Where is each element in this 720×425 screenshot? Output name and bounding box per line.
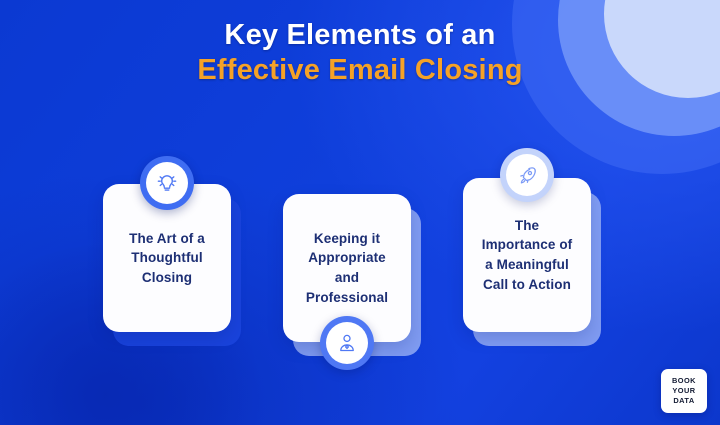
brand-logo: BOOK YOUR DATA xyxy=(661,369,707,413)
card-group: The Art of a Thoughtful Closing xyxy=(0,0,720,425)
card-label: The Importance of a Meaningful Call to A… xyxy=(477,216,577,294)
card-badge-thoughtful-closing xyxy=(140,156,194,210)
infographic-canvas: Key Elements of an Effective Email Closi… xyxy=(0,0,720,425)
card-item-appropriate-professional[interactable]: Keeping it Appropriate and Professional xyxy=(283,194,411,342)
logo-line-1: BOOK xyxy=(672,376,696,386)
rocket-icon xyxy=(517,165,538,186)
card-label: The Art of a Thoughtful Closing xyxy=(117,229,217,288)
badge-inner-circle xyxy=(506,154,548,196)
card-badge-appropriate-professional xyxy=(320,316,374,370)
badge-inner-circle xyxy=(146,162,188,204)
lightbulb-icon xyxy=(156,172,178,194)
logo-line-2: YOUR xyxy=(672,386,695,396)
card-badge-call-to-action xyxy=(500,148,554,202)
card-item-thoughtful-closing[interactable]: The Art of a Thoughtful Closing xyxy=(103,184,231,332)
badge-inner-circle xyxy=(326,322,368,364)
logo-line-3: DATA xyxy=(673,396,694,406)
card-item-call-to-action[interactable]: The Importance of a Meaningful Call to A… xyxy=(463,178,591,332)
card-label: Keeping it Appropriate and Professional xyxy=(297,229,397,307)
professional-person-icon xyxy=(336,332,358,354)
